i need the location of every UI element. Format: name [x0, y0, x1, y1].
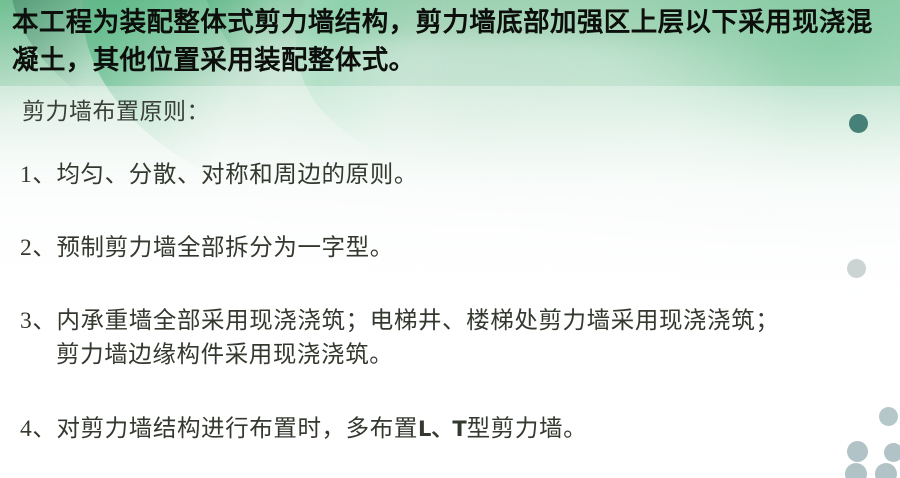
slide-canvas: 本工程为装配整体式剪力墙结构，剪力墙底部加强区上层以下采用现浇混凝土，其他位置采…	[0, 0, 900, 478]
slide-title: 本工程为装配整体式剪力墙结构，剪力墙底部加强区上层以下采用现浇混凝土，其他位置采…	[12, 4, 888, 80]
list-item: 2、预制剪力墙全部拆分为一字型。	[20, 231, 394, 265]
list-item: 1、均匀、分散、对称和周边的原则。	[20, 158, 418, 192]
dot-gray-mid	[847, 259, 866, 278]
dot-bluegray-right	[884, 443, 900, 462]
dot-bluegray-left	[847, 441, 868, 462]
list-item-text: 均匀、分散、对称和周边的原则。	[56, 162, 418, 188]
list-item-latin-labels: L、T	[418, 417, 467, 441]
dot-teal-top	[849, 114, 868, 133]
list-item-text-line2: 剪力墙边缘构件采用现浇浇筑。	[20, 338, 890, 372]
dot-bluegray-upper	[879, 407, 898, 426]
list-item-number: 4、	[20, 416, 56, 442]
body-lead-text: 剪力墙布置原则：	[22, 96, 210, 128]
dot-bluegray-bottom-left	[845, 463, 867, 478]
list-item-text-after: 型剪力墙。	[467, 416, 588, 442]
list-item: 3、内承重墙全部采用现浇浇筑；电梯井、楼梯处剪力墙采用现浇浇筑；剪力墙边缘构件采…	[20, 304, 890, 372]
list-item-text: 预制剪力墙全部拆分为一字型。	[56, 235, 393, 261]
list-item-number: 1、	[20, 162, 56, 188]
list-item-number: 3、	[20, 308, 56, 334]
list-item-text-before: 对剪力墙结构进行布置时，多布置	[56, 416, 418, 442]
list-item-text-line1: 内承重墙全部采用现浇浇筑；电梯井、楼梯处剪力墙采用现浇浇筑；	[56, 308, 779, 334]
list-item-number: 2、	[20, 235, 56, 261]
dot-bluegray-bottom-right	[875, 463, 897, 478]
list-item: 4、对剪力墙结构进行布置时，多布置L、T型剪力墙。	[20, 412, 587, 446]
